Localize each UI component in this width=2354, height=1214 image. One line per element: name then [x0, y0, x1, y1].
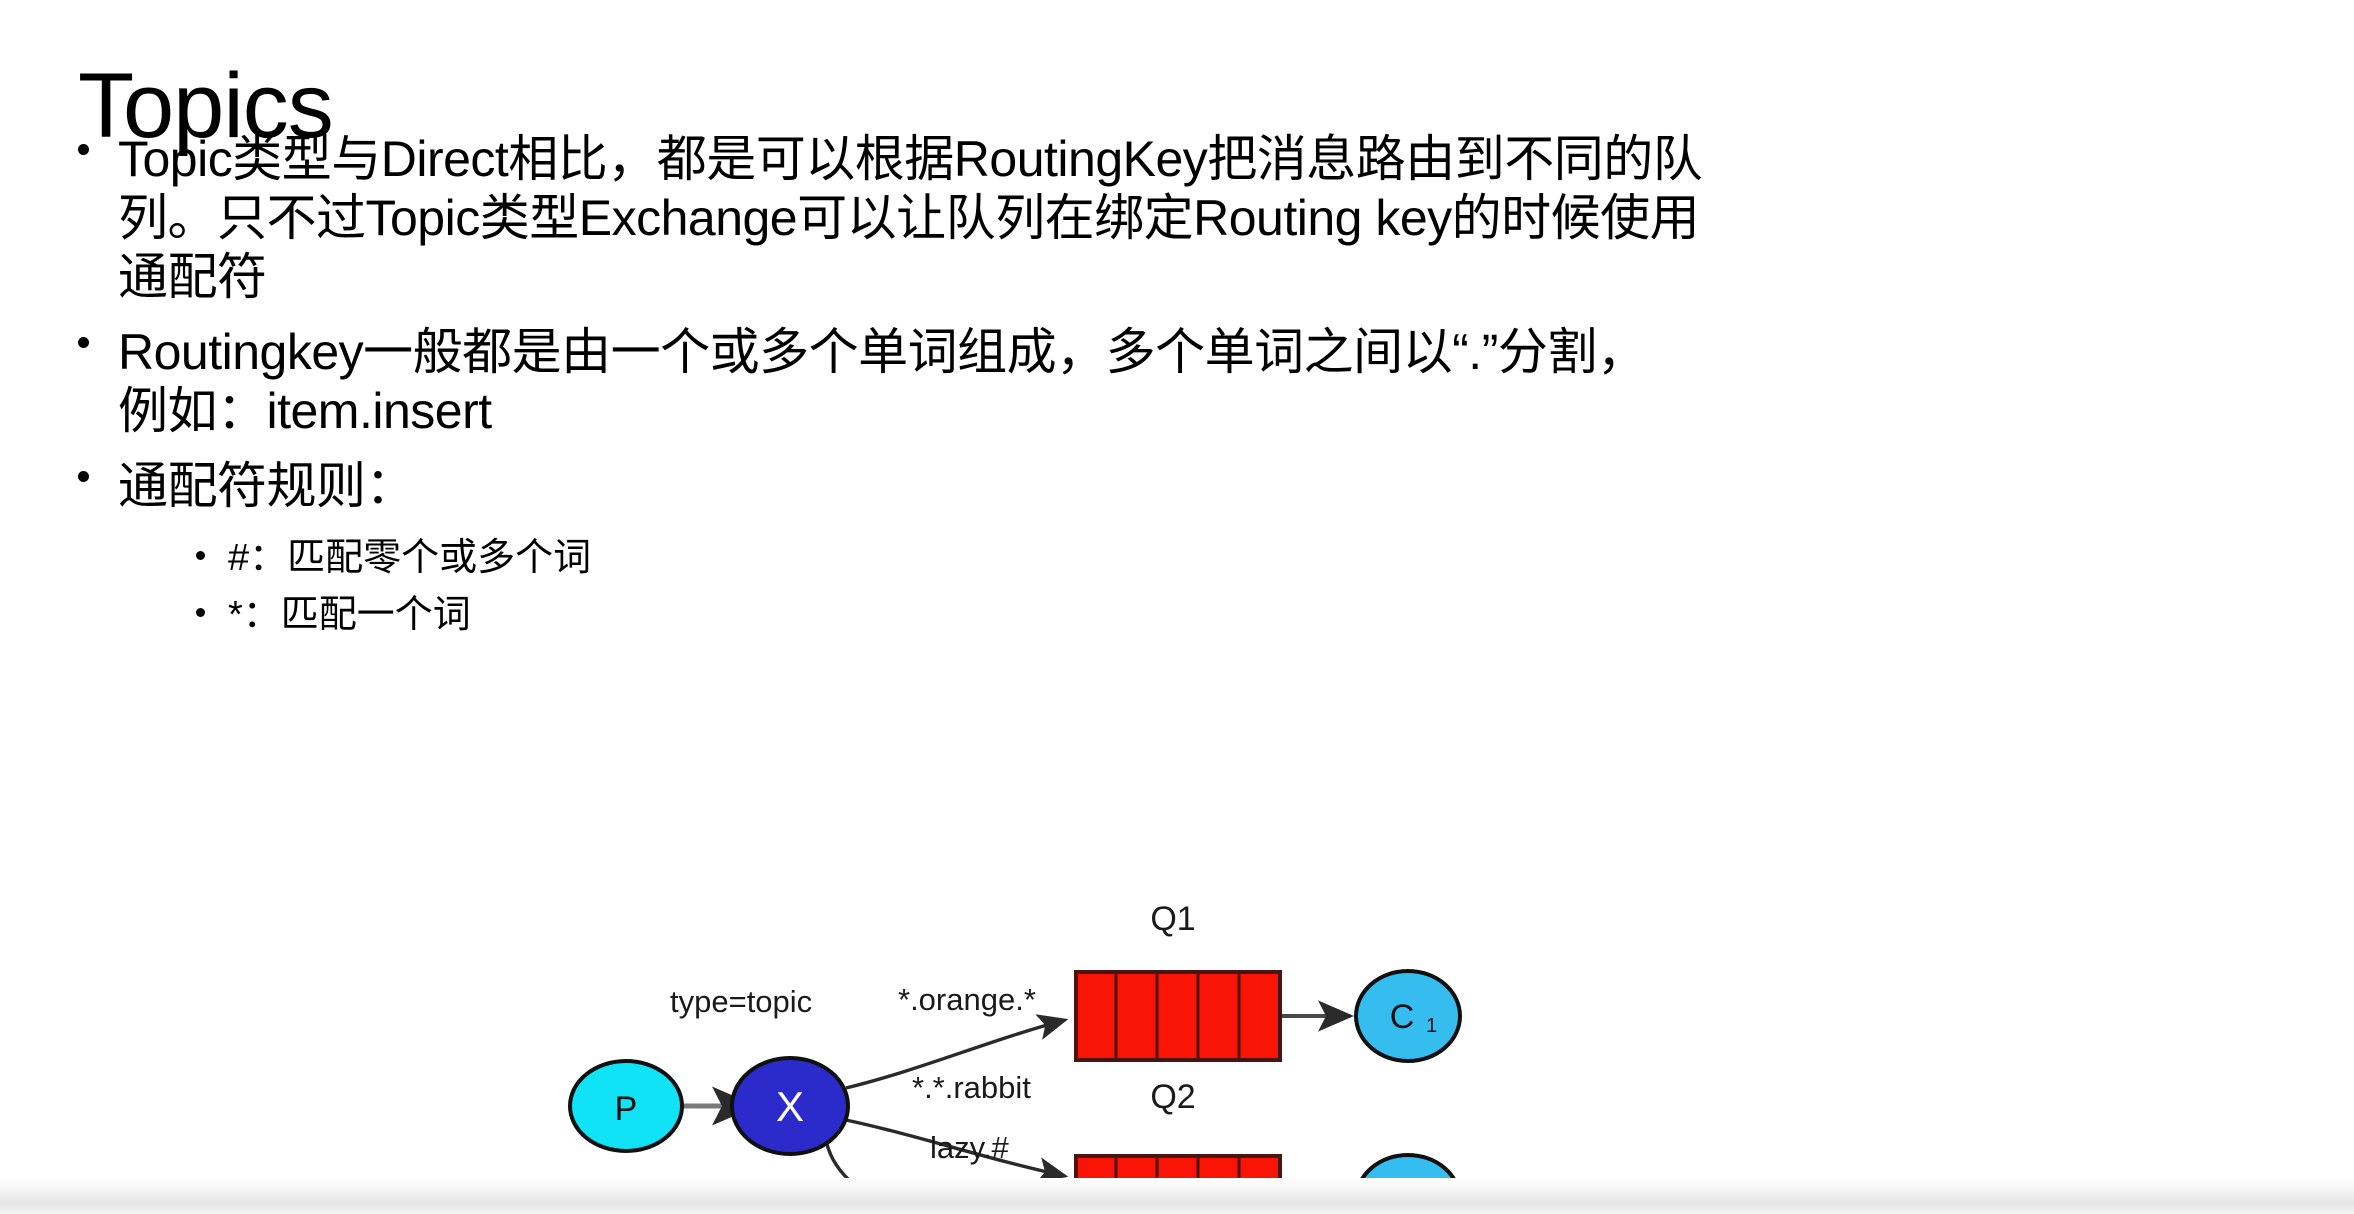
consumer-c1-node: C 1: [1356, 971, 1460, 1061]
bullet-2-line-1: Routingkey一般都是由一个或多个单词组成，多个单词之间以“.”分割，: [118, 323, 2290, 382]
exchange-type-label: type=topic: [670, 984, 812, 1019]
queue-q1-label: Q1: [1150, 900, 1195, 938]
sub-bullet-item-star: *：匹配一个词: [188, 587, 2290, 644]
queue-q2-label: Q2: [1150, 1078, 1195, 1116]
bullet-item-3: 通配符规则： #：匹配零个或多个词 *：匹配一个词: [70, 457, 2290, 644]
sub-bullet-list: #：匹配零个或多个词 *：匹配一个词: [118, 530, 2290, 644]
exchange-node: X: [732, 1058, 848, 1154]
bullet-dot-icon: [78, 144, 89, 155]
bullet-item-1: Topic类型与Direct相比，都是可以根据RoutingKey把消息路由到不…: [70, 130, 2290, 307]
sub-bullet-dot-icon: [196, 551, 205, 560]
bullet-dot-icon: [78, 471, 89, 482]
slide-canvas: Topics Topic类型与Direct相比，都是可以根据RoutingKey…: [0, 0, 2354, 1214]
binding-key-orange-label: *.orange.*: [898, 982, 1036, 1017]
sub-bullet-dot-icon: [196, 608, 205, 617]
sub-bullet-star-label: *：匹配一个词: [228, 594, 471, 636]
bullet-list: Topic类型与Direct相比，都是可以根据RoutingKey把消息路由到不…: [70, 130, 2290, 660]
bullet-1-line-1: Topic类型与Direct相比，都是可以根据RoutingKey把消息路由到不…: [118, 130, 2290, 189]
bullet-2-line-2: 例如：item.insert: [118, 382, 2290, 441]
sub-bullet-item-hash: #：匹配零个或多个词: [188, 530, 2290, 587]
binding-key-rabbit-label: *.*.rabbit: [912, 1070, 1031, 1105]
bullet-item-2: Routingkey一般都是由一个或多个单词组成，多个单词之间以“.”分割， 例…: [70, 323, 2290, 441]
producer-node: P: [570, 1061, 682, 1151]
topic-exchange-diagram: P X type=topic *.orange.* *.*.rabbit laz…: [560, 820, 1760, 1214]
consumer-c1-subscript: 1: [1426, 1015, 1437, 1037]
exchange-label: X: [776, 1083, 804, 1130]
consumer-c1-label: C: [1390, 998, 1415, 1036]
producer-label: P: [615, 1090, 638, 1128]
queue-q1: [1076, 972, 1280, 1060]
sub-bullet-hash-label: #：匹配零个或多个词: [228, 537, 591, 579]
frame-bottom-band: [0, 1178, 2354, 1214]
bullet-1-line-2: 列。只不过Topic类型Exchange可以让队列在绑定Routing key的…: [118, 189, 2290, 248]
bullet-1-line-3: 通配符: [118, 248, 2290, 307]
bullet-3-line-1: 通配符规则：: [118, 457, 2290, 516]
binding-key-lazy-label: lazy.#: [930, 1130, 1009, 1165]
bullet-dot-icon: [78, 337, 89, 348]
